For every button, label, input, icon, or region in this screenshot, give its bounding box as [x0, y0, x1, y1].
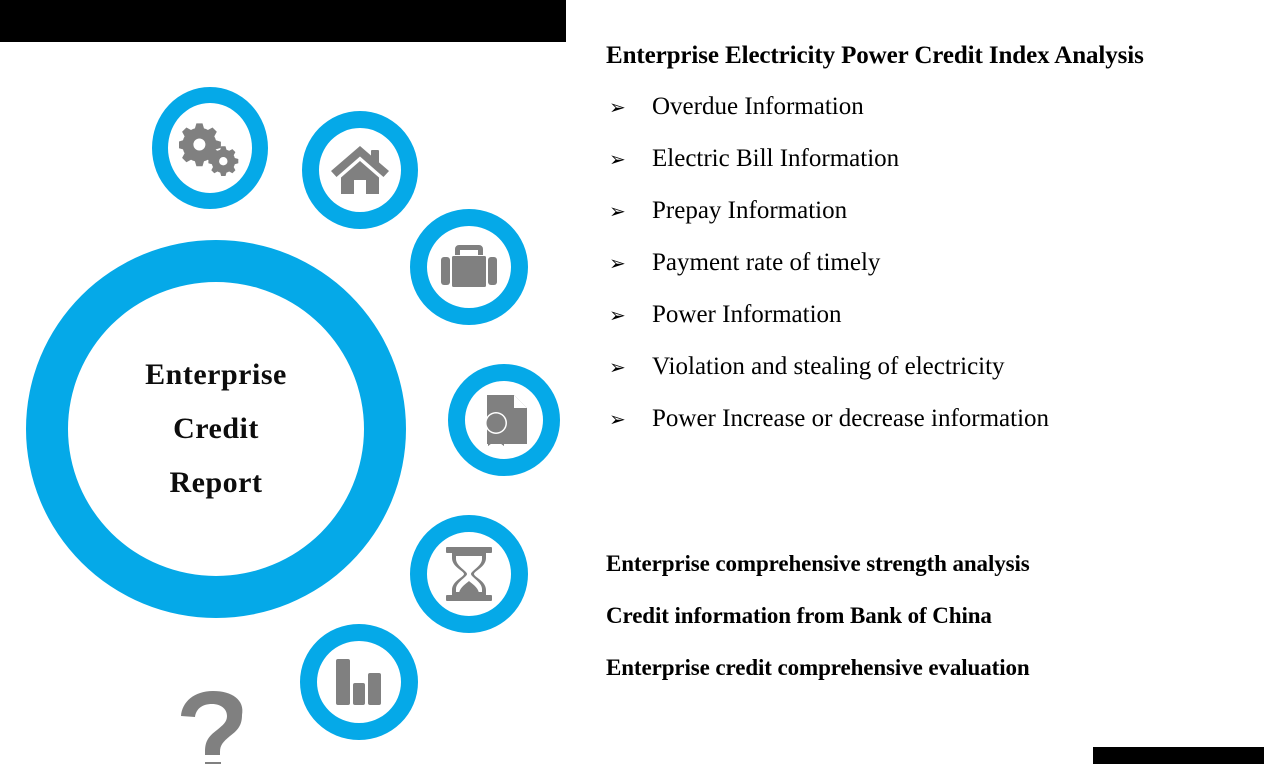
- central-label-line-2: Credit: [173, 414, 259, 444]
- list-item: ➢ Violation and stealing of electricity: [604, 352, 1264, 404]
- home-icon: [329, 142, 391, 198]
- node-bar-chart[interactable]: [300, 624, 418, 740]
- list-item: ➢ Electric Bill Information: [604, 144, 1264, 196]
- bullet-label: Prepay Information: [652, 196, 847, 226]
- arrow-bullet-icon: ➢: [604, 352, 652, 382]
- summary-list: Enterprise comprehensive strength analys…: [606, 538, 1264, 694]
- slide-canvas: Enterprise Credit Report: [0, 0, 1264, 764]
- central-label-line-1: Enterprise: [145, 360, 287, 390]
- bullet-label: Payment rate of timely: [652, 248, 880, 278]
- credit-index-bullet-list: ➢ Overdue Information ➢ Electric Bill In…: [604, 92, 1264, 456]
- certificate-icon: [476, 392, 532, 448]
- arrow-bullet-icon: ➢: [604, 404, 652, 434]
- node-question-mark: [178, 689, 248, 764]
- bullet-label: Violation and stealing of electricity: [652, 352, 1005, 382]
- briefcase-icon: [439, 241, 499, 293]
- node-briefcase[interactable]: [410, 209, 528, 325]
- arrow-bullet-icon: ➢: [604, 196, 652, 226]
- gears-icon: [179, 120, 241, 176]
- list-item: ➢ Power Increase or decrease information: [604, 404, 1264, 456]
- bullet-label: Overdue Information: [652, 92, 864, 122]
- arrow-bullet-icon: ➢: [604, 248, 652, 278]
- bullet-label: Power Information: [652, 300, 842, 330]
- hourglass-icon: [442, 545, 496, 603]
- arrow-bullet-icon: ➢: [604, 144, 652, 174]
- central-ring-label: Enterprise Credit Report: [26, 240, 406, 618]
- summary-line: Enterprise comprehensive strength analys…: [606, 538, 1264, 590]
- node-home[interactable]: [302, 111, 418, 229]
- summary-line: Enterprise credit comprehensive evaluati…: [606, 642, 1264, 694]
- credit-report-diagram: Enterprise Credit Report: [0, 42, 580, 764]
- node-gears[interactable]: [152, 87, 268, 209]
- content-title: Enterprise Electricity Power Credit Inde…: [606, 42, 1144, 70]
- content-column: Enterprise Electricity Power Credit Inde…: [604, 42, 1264, 764]
- arrow-bullet-icon: ➢: [604, 92, 652, 122]
- bullet-label: Electric Bill Information: [652, 144, 899, 174]
- bar-chart-icon: [333, 656, 385, 708]
- decorative-black-bar-top: [0, 0, 566, 42]
- node-hourglass[interactable]: [410, 515, 528, 633]
- list-item: ➢ Overdue Information: [604, 92, 1264, 144]
- list-item: ➢ Payment rate of timely: [604, 248, 1264, 300]
- list-item: ➢ Prepay Information: [604, 196, 1264, 248]
- question-mark-icon: [178, 689, 248, 764]
- bullet-label: Power Increase or decrease information: [652, 404, 1049, 434]
- node-certificate[interactable]: [448, 364, 560, 476]
- list-item: ➢ Power Information: [604, 300, 1264, 352]
- arrow-bullet-icon: ➢: [604, 300, 652, 330]
- central-label-line-3: Report: [170, 468, 263, 498]
- summary-line: Credit information from Bank of China: [606, 590, 1264, 642]
